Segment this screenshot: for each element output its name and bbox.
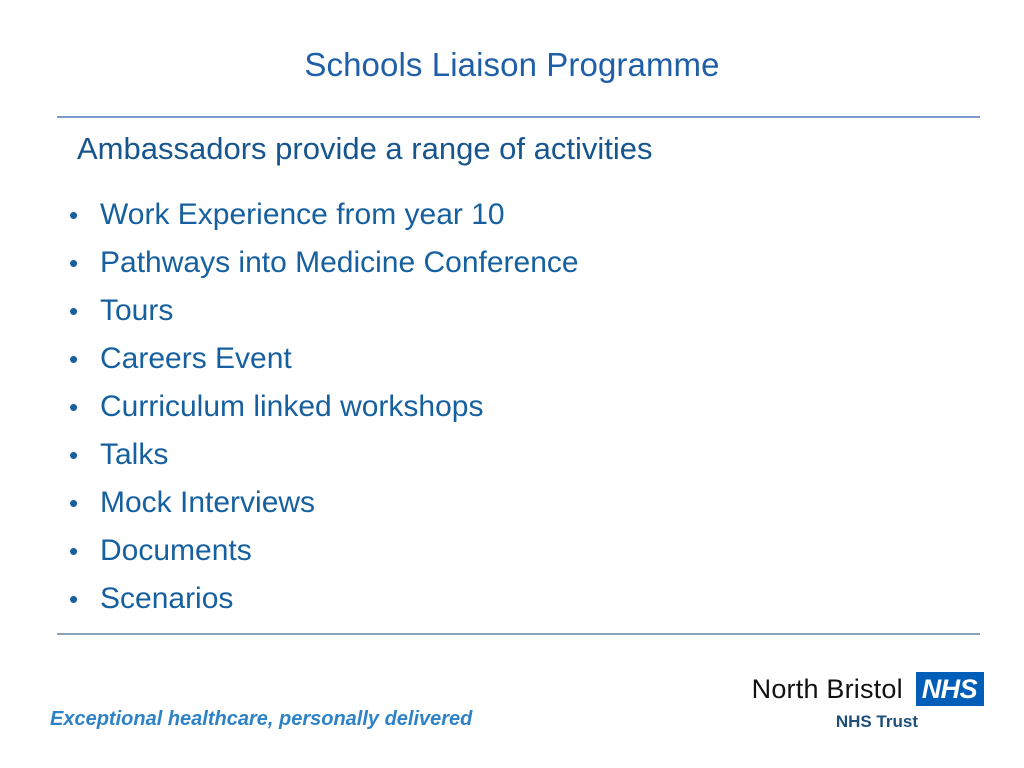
organisation-type: NHS Trust — [836, 712, 918, 732]
divider-top — [57, 116, 980, 118]
organisation-name: North Bristol — [752, 674, 916, 705]
bullet-icon: • — [69, 431, 91, 479]
footer-tagline: Exceptional healthcare, personally deliv… — [50, 708, 472, 731]
slide-subtitle: Ambassadors provide a range of activitie… — [77, 131, 653, 167]
bullet-icon: • — [69, 383, 91, 431]
logo-primary-row: North Bristol NHS — [752, 670, 984, 708]
list-item-label: Documents — [100, 534, 252, 567]
bullet-icon: • — [69, 575, 91, 623]
bullet-icon: • — [69, 239, 91, 287]
bullet-icon: • — [69, 527, 91, 575]
bullet-icon: • — [69, 335, 91, 383]
list-item-label: Work Experience from year 10 — [100, 198, 505, 231]
bullet-icon: • — [69, 191, 91, 239]
page-title: Schools Liaison Programme — [0, 46, 1024, 84]
list-item: • Curriculum linked workshops — [66, 383, 946, 431]
bullet-icon: • — [69, 287, 91, 335]
bullet-icon: • — [69, 479, 91, 527]
list-item-label: Mock Interviews — [100, 486, 315, 519]
list-item: • Scenarios — [66, 575, 946, 623]
list-item-label: Pathways into Medicine Conference — [100, 246, 579, 279]
list-item: • Pathways into Medicine Conference — [66, 239, 946, 287]
presentation-slide: Schools Liaison Programme Ambassadors pr… — [0, 0, 1024, 768]
list-item: • Documents — [66, 527, 946, 575]
list-item: • Tours — [66, 287, 946, 335]
list-item: • Work Experience from year 10 — [66, 191, 946, 239]
list-item-label: Scenarios — [100, 582, 233, 615]
list-item-label: Tours — [100, 294, 173, 327]
list-item: • Talks — [66, 431, 946, 479]
nhs-logo-icon: NHS — [916, 672, 984, 706]
activities-list: • Work Experience from year 10 • Pathway… — [66, 191, 946, 623]
list-item: • Careers Event — [66, 335, 946, 383]
list-item-label: Talks — [100, 438, 168, 471]
divider-bottom — [57, 633, 980, 635]
list-item-label: Curriculum linked workshops — [100, 390, 483, 423]
list-item-label: Careers Event — [100, 342, 292, 375]
nhs-trust-logo: North Bristol NHS NHS Trust — [700, 670, 984, 742]
list-item: • Mock Interviews — [66, 479, 946, 527]
